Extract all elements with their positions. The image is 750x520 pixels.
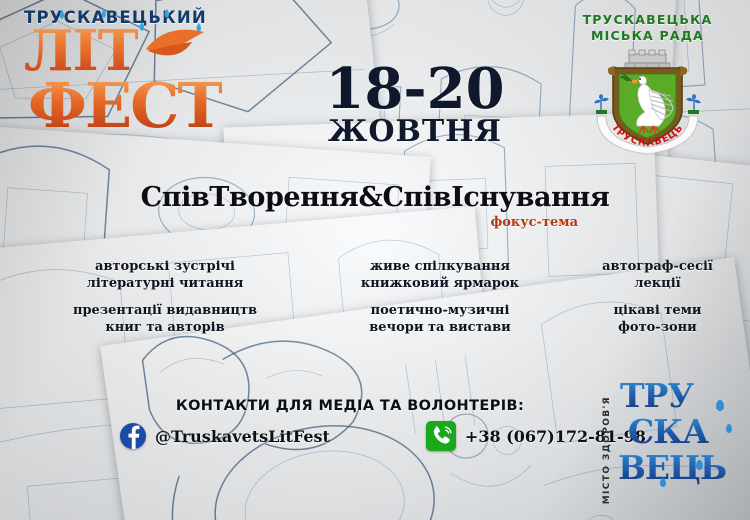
activity-item: книг та авторів bbox=[55, 319, 275, 336]
city-logo-line-2: СКА bbox=[628, 414, 726, 450]
contacts-title: КОНТАКТИ ДЛЯ МЕДІА ТА ВОЛОНТЕРІВ: bbox=[110, 398, 590, 414]
activity-item: презентації видавництв bbox=[55, 302, 275, 319]
spacer bbox=[575, 292, 740, 302]
focus-theme-title: СпівТворення&СпівІснування bbox=[110, 183, 640, 213]
event-dates: 18-20 ЖОВТНЯ bbox=[300, 62, 530, 148]
focus-theme-block: СпівТворення&СпівІснування фокус-тема bbox=[110, 183, 640, 231]
activity-item: живе спілкування bbox=[340, 258, 540, 275]
event-date-days: 18-20 bbox=[300, 62, 530, 116]
council-line-2: МІСЬКА РАДА bbox=[555, 28, 740, 44]
truskavets-city-logo: МІСТО ЗДОРОВ'Я ТРУ СКА ВЕЦЬ bbox=[600, 378, 745, 498]
poster-canvas: ТРУСКАВЕЦЬКИЙ ЛІТ ФЕСТ 18-20 ЖОВТНЯ ТРУС… bbox=[0, 0, 750, 520]
activity-item: цікаві теми bbox=[575, 302, 740, 319]
leaf-lips-icon bbox=[144, 29, 208, 63]
water-drop-icon bbox=[696, 460, 703, 470]
facebook-handle[interactable]: @TruskavetsLitFest bbox=[155, 427, 330, 446]
brand-line-2-text: ФЕСТ bbox=[28, 75, 222, 137]
city-logo-wordmark: ТРУ СКА ВЕЦЬ bbox=[620, 378, 726, 486]
council-line-1: ТРУСКАВЕЦЬКА bbox=[555, 12, 740, 28]
city-logo-tagline: МІСТО ЗДОРОВ'Я bbox=[602, 396, 612, 504]
activity-item: книжковий ярмарок bbox=[340, 275, 540, 292]
brand-line-2: ФЕСТ bbox=[28, 75, 254, 139]
activity-item: авторські зустрічі bbox=[55, 258, 275, 275]
activity-item: автограф-сесії bbox=[575, 258, 740, 275]
litfest-logo: ТРУСКАВЕЦЬКИЙ ЛІТ ФЕСТ bbox=[24, 8, 254, 139]
water-drop-icon bbox=[716, 400, 724, 411]
activity-item: фото-зони bbox=[575, 319, 740, 336]
event-date-month: ЖОВТНЯ bbox=[300, 116, 530, 148]
water-drop-icon bbox=[726, 424, 732, 433]
activity-item: поетично-музичні bbox=[340, 302, 540, 319]
city-council-block: ТРУСКАВЕЦЬКА МІСЬКА РАДА bbox=[555, 12, 740, 158]
activity-item: вечори та вистави bbox=[340, 319, 540, 336]
spacer bbox=[55, 292, 275, 302]
facebook-contact[interactable]: @TruskavetsLitFest bbox=[120, 423, 330, 449]
city-logo-line-3: ВЕЦЬ bbox=[618, 450, 726, 486]
activities-column-middle: живе спілкування книжковий ярмарок поети… bbox=[340, 258, 540, 336]
contacts-row: @TruskavetsLitFest +38 (067)172-81-98 bbox=[110, 421, 590, 451]
activities-column-right: автограф-сесії лекції цікаві теми фото-з… bbox=[575, 258, 740, 336]
water-drop-icon bbox=[660, 478, 666, 487]
focus-theme-subtitle: фокус-тема bbox=[110, 215, 640, 231]
activity-item: лекції bbox=[575, 275, 740, 292]
truskavets-coat-of-arms-icon: ТРУСКАВЕЦЬ bbox=[585, 48, 710, 158]
spacer bbox=[340, 292, 540, 302]
activities-column-left: авторські зустрічі літературні читання п… bbox=[55, 258, 275, 336]
activity-item: літературні читання bbox=[55, 275, 275, 292]
city-logo-line-1: ТРУ bbox=[620, 378, 726, 414]
facebook-icon[interactable] bbox=[120, 423, 146, 449]
contacts-block: КОНТАКТИ ДЛЯ МЕДІА ТА ВОЛОНТЕРІВ: @Trusk… bbox=[110, 398, 590, 451]
viber-icon[interactable] bbox=[426, 421, 456, 451]
